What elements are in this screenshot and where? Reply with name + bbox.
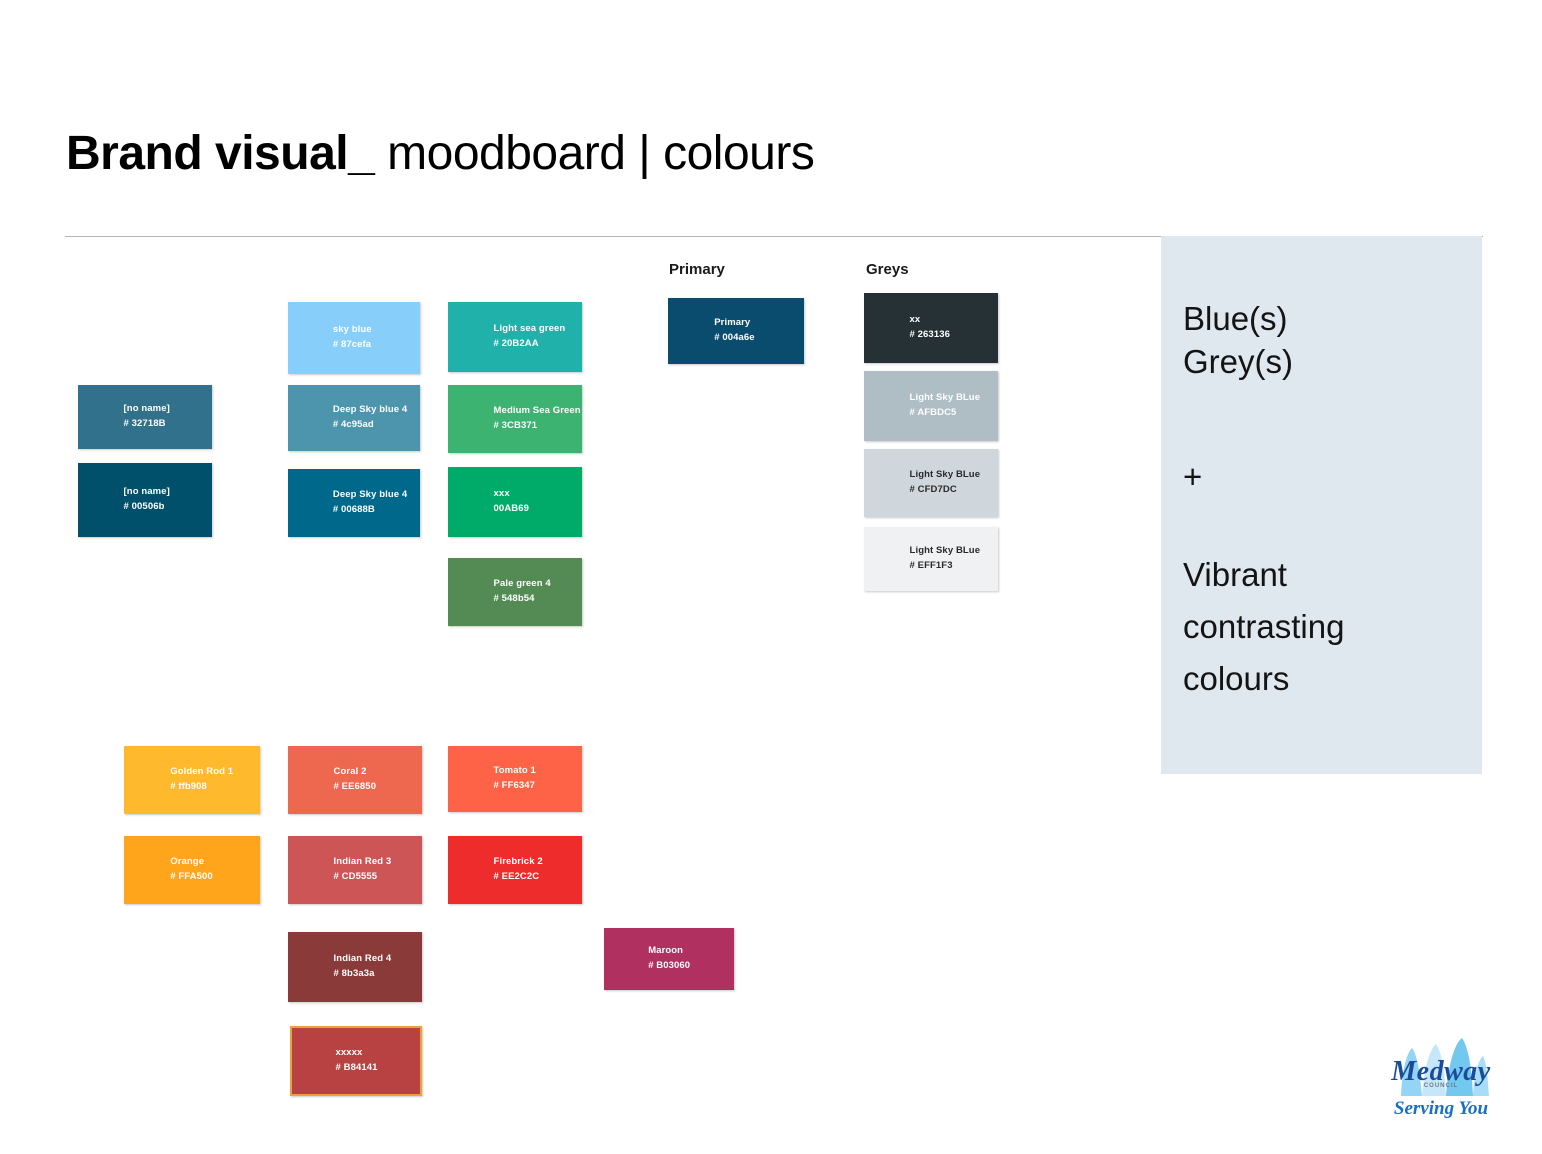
colour-swatch[interactable]: Primary# 004a6e	[668, 298, 804, 364]
summary-line-colours: colours	[1183, 658, 1289, 700]
colour-swatch[interactable]: xx# 263136	[864, 293, 998, 363]
colour-swatch-hex: # 8b3a3a	[288, 967, 422, 982]
colour-swatch[interactable]: Firebrick 2# EE2C2C	[448, 836, 582, 904]
colour-swatch[interactable]: Light Sky BLue# AFBDC5	[864, 371, 998, 441]
summary-line-contrasting: contrasting	[1183, 606, 1344, 648]
colour-swatch-hex: # CD5555	[288, 870, 422, 885]
summary-line-blues: Blue(s)	[1183, 298, 1288, 340]
colour-swatch-name: Indian Red 4	[288, 952, 422, 967]
colour-swatch-name: xxx	[448, 487, 582, 502]
colour-swatch-name: Tomato 1	[448, 764, 582, 779]
summary-line-vibrant: Vibrant	[1183, 554, 1287, 596]
colour-swatch-hex: # 4c95ad	[288, 418, 420, 433]
colour-swatch-name: Coral 2	[288, 765, 422, 780]
page-title-light: moodboard | colours	[374, 127, 814, 180]
colour-swatch[interactable]: Golden Rod 1# ffb908	[124, 746, 260, 814]
colour-swatch-hex: # EFF1F3	[864, 559, 998, 574]
colour-swatch-name: Medium Sea Green	[448, 404, 582, 419]
colour-swatch[interactable]: Indian Red 3# CD5555	[288, 836, 422, 904]
colour-swatch[interactable]: Light Sky BLue# CFD7DC	[864, 449, 998, 517]
colour-swatch-name: Light sea green	[448, 322, 582, 337]
colour-swatch[interactable]: Light Sky BLue# EFF1F3	[864, 527, 998, 591]
page-title: Brand visual_ moodboard | colours	[66, 126, 814, 181]
section-label-primary: Primary	[669, 261, 725, 278]
summary-line-plus: +	[1183, 456, 1202, 498]
colour-swatch-name: Indian Red 3	[288, 855, 422, 870]
colour-swatch-hex: # EE2C2C	[448, 870, 582, 885]
colour-swatch-name: xxxxx	[292, 1046, 420, 1061]
colour-swatch-name: Light Sky BLue	[864, 544, 998, 559]
colour-swatch-hex: # 00688B	[288, 503, 420, 518]
colour-swatch-hex: # FFA500	[124, 870, 260, 885]
colour-swatch-hex: # 32718B	[78, 417, 212, 432]
colour-swatch-name: Orange	[124, 855, 260, 870]
colour-swatch[interactable]: xxx00AB69	[448, 467, 582, 537]
colour-swatch[interactable]: Light sea green# 20B2AA	[448, 302, 582, 372]
logo-subtext: COUNCIL	[1374, 1083, 1508, 1089]
colour-swatch-name: Pale green 4	[448, 577, 582, 592]
colour-swatch-hex: # 3CB371	[448, 419, 582, 434]
colour-swatch[interactable]: [no name]# 32718B	[78, 385, 212, 449]
colour-swatch-hex: # 004a6e	[668, 331, 804, 346]
colour-swatch[interactable]: Tomato 1# FF6347	[448, 746, 582, 812]
colour-swatch-hex: # 00506b	[78, 500, 212, 515]
colour-swatch[interactable]: Deep Sky blue 4# 4c95ad	[288, 385, 420, 451]
colour-swatch[interactable]: xxxxx# B84141	[290, 1026, 422, 1096]
colour-swatch-name: Deep Sky blue 4	[288, 403, 420, 418]
colour-swatch-hex: # ffb908	[124, 780, 260, 795]
colour-swatch-hex: # B03060	[604, 959, 734, 974]
colour-swatch[interactable]: Medium Sea Green# 3CB371	[448, 385, 582, 453]
colour-swatch-name: xx	[864, 313, 998, 328]
colour-swatch[interactable]: Deep Sky blue 4# 00688B	[288, 469, 420, 537]
colour-swatch[interactable]: sky blue# 87cefa	[288, 302, 420, 374]
colour-swatch-name: Golden Rod 1	[124, 765, 260, 780]
colour-swatch[interactable]: Maroon# B03060	[604, 928, 734, 990]
summary-line-greys: Grey(s)	[1183, 341, 1293, 383]
colour-swatch-name: [no name]	[78, 485, 212, 500]
colour-swatch[interactable]: Indian Red 4# 8b3a3a	[288, 932, 422, 1002]
colour-swatch-hex: # 263136	[864, 328, 998, 343]
colour-swatch-hex: 00AB69	[448, 502, 582, 517]
colour-swatch-hex: # B84141	[292, 1061, 420, 1076]
colour-swatch-hex: # CFD7DC	[864, 483, 998, 498]
colour-swatch-name: Light Sky BLue	[864, 468, 998, 483]
colour-swatch-name: Light Sky BLue	[864, 391, 998, 406]
colour-swatch[interactable]: Pale green 4# 548b54	[448, 558, 582, 626]
colour-swatch[interactable]: Orange# FFA500	[124, 836, 260, 904]
colour-swatch-name: Deep Sky blue 4	[288, 488, 420, 503]
colour-swatch-hex: # FF6347	[448, 779, 582, 794]
colour-swatch-hex: # EE6850	[288, 780, 422, 795]
colour-swatch-name: sky blue	[288, 323, 420, 338]
colour-swatch-hex: # 548b54	[448, 592, 582, 607]
colour-swatch-hex: # 87cefa	[288, 338, 420, 353]
section-label-greys: Greys	[866, 261, 909, 278]
page-title-bold: Brand visual_	[66, 127, 374, 180]
colour-swatch-name: Primary	[668, 316, 804, 331]
medway-council-logo: Medway COUNCIL Serving You	[1366, 1036, 1516, 1132]
colour-swatch-hex: # 20B2AA	[448, 337, 582, 352]
colour-swatch-name: Maroon	[604, 944, 734, 959]
colour-swatch-name: Firebrick 2	[448, 855, 582, 870]
logo-tagline: Serving You	[1366, 1098, 1516, 1120]
colour-swatch-hex: # AFBDC5	[864, 406, 998, 421]
colour-swatch[interactable]: Coral 2# EE6850	[288, 746, 422, 814]
colour-swatch[interactable]: [no name]# 00506b	[78, 463, 212, 537]
summary-panel: Blue(s) Grey(s) + Vibrant contrasting co…	[1161, 236, 1482, 774]
colour-swatch-name: [no name]	[78, 402, 212, 417]
